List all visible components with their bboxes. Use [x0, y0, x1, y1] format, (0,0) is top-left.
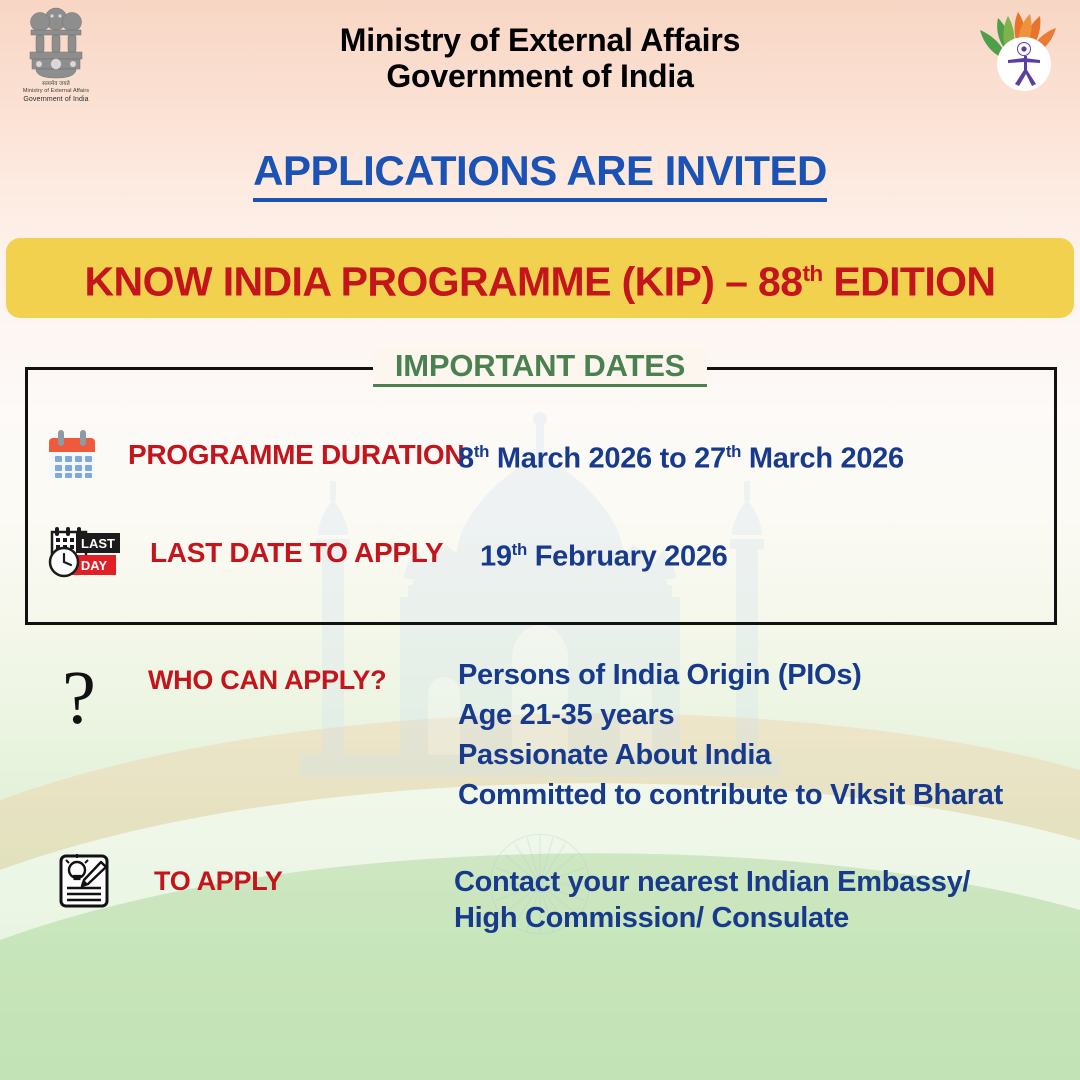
poster: सत्यमेव जयते Ministry of External Affair… [0, 0, 1080, 1080]
emblem-government: Government of India [16, 95, 96, 104]
to-apply-line: Contact your nearest Indian Embassy/ [454, 864, 970, 900]
applications-invited-heading: APPLICATIONS ARE INVITED [0, 146, 1080, 202]
eligibility-item: Committed to contribute to Viksit Bharat [458, 775, 1003, 815]
last-date-value: 19th February 2026 [480, 533, 727, 574]
to-apply-values: Contact your nearest Indian Embassy/ Hig… [454, 864, 970, 936]
question-mark-icon: ? [56, 661, 102, 741]
who-can-apply-values: Persons of India Origin (PIOs) Age 21-35… [458, 655, 1003, 815]
know-india-programme-logo [968, 6, 1068, 104]
ministry-title-line1: Ministry of External Affairs [340, 22, 740, 58]
to-apply-line: High Commission/ Consulate [454, 900, 970, 936]
duration-start-day: 8 [458, 442, 474, 474]
programme-duration-label: PROGRAMME DURATION [128, 439, 458, 471]
kip-edition-text: KNOW INDIA PROGRAMME (KIP) – 88th EDITIO… [85, 252, 996, 304]
ministry-title-line2: Government of India [0, 58, 1080, 94]
duration-end-month: March 2026 [741, 442, 904, 474]
duration-end-ordinal: th [726, 442, 741, 461]
svg-text:DAY: DAY [81, 558, 108, 573]
last-date-day: 19 [480, 540, 512, 572]
duration-start-ordinal: th [474, 442, 489, 461]
ministry-title: Ministry of External Affairs Government … [0, 22, 1080, 94]
kip-edition-prefix: KNOW INDIA PROGRAMME (KIP) – 88 [85, 259, 803, 305]
svg-text:?: ? [62, 661, 96, 740]
kip-edition-ordinal: th [802, 261, 822, 286]
important-dates-box [25, 367, 1057, 625]
applications-invited-text: APPLICATIONS ARE INVITED [253, 146, 827, 202]
to-apply-label: TO APPLY [154, 866, 454, 897]
eligibility-item: Persons of India Origin (PIOs) [458, 655, 1003, 695]
last-date-row: LAST DAY LAST DATE TO APPLY 19th Februar… [44, 524, 727, 582]
calendar-icon [46, 428, 98, 482]
programme-duration-value: 8th March 2026 to 27th March 2026 [458, 435, 904, 476]
last-date-label: LAST DATE TO APPLY [150, 537, 480, 569]
who-can-apply-label: WHO CAN APPLY? [148, 665, 458, 696]
last-date-month-year: February 2026 [527, 540, 728, 572]
notepad-idea-icon [56, 850, 114, 912]
programme-duration-row: PROGRAMME DURATION 8th March 2026 to 27t… [46, 428, 904, 482]
svg-text:LAST: LAST [81, 536, 115, 551]
eligibility-item: Age 21-35 years [458, 695, 1003, 735]
social-footer: Diaspora India Connect diaspora_india [0, 1004, 1080, 1080]
last-day-calendar-icon: LAST DAY [44, 524, 124, 582]
who-can-apply-row: ? WHO CAN APPLY? Persons of India Origin… [56, 655, 1003, 815]
to-apply-row: TO APPLY Contact your nearest Indian Emb… [56, 850, 970, 936]
last-date-ordinal: th [512, 540, 527, 559]
duration-mid: March 2026 to 27 [489, 442, 726, 474]
kip-edition-suffix: EDITION [823, 259, 996, 305]
poster-header: सत्यमेव जयते Ministry of External Affair… [0, 0, 1080, 120]
kip-edition-banner: KNOW INDIA PROGRAMME (KIP) – 88th EDITIO… [6, 238, 1074, 318]
eligibility-item: Passionate About India [458, 735, 1003, 775]
